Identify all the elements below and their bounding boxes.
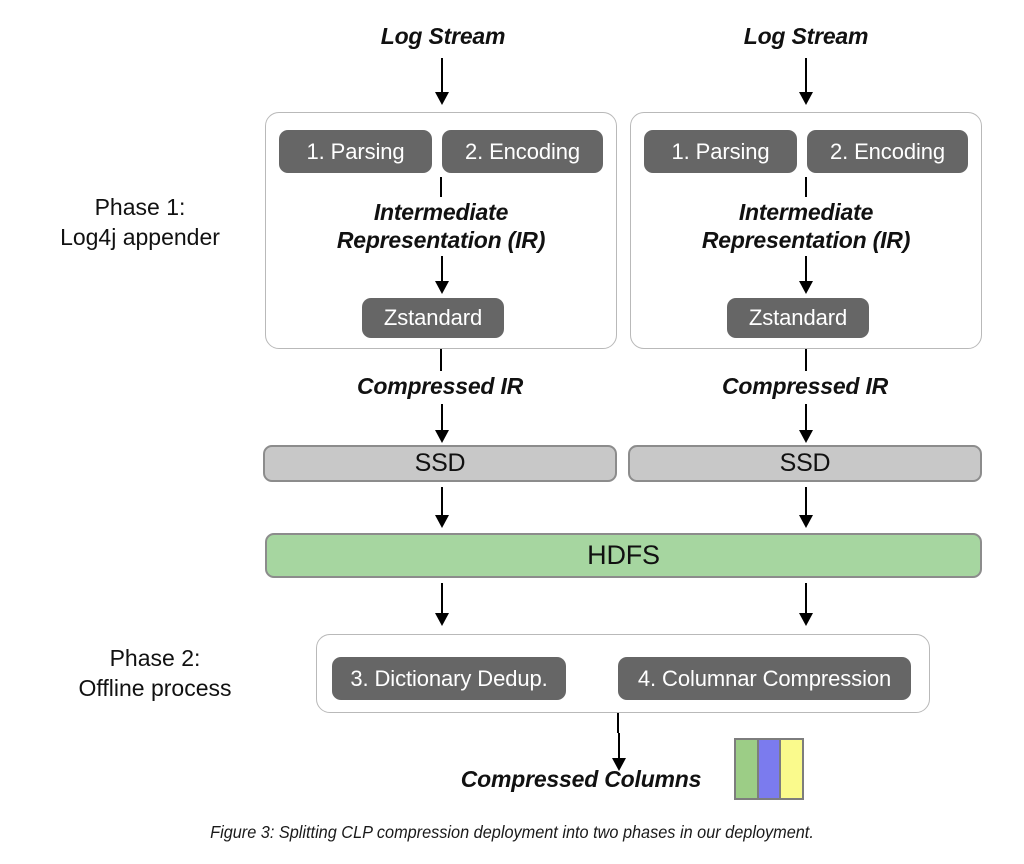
arrow-head <box>799 281 813 294</box>
arrow-hdfs-to-phase2-left <box>434 583 450 626</box>
arrow-ssd-to-hdfs-right <box>798 487 814 528</box>
storage-ssd-left: SSD <box>263 445 617 482</box>
arrow-head <box>435 515 449 528</box>
arrow-head <box>799 430 813 443</box>
arrow-shaft <box>805 256 807 281</box>
arrow-log-stream-to-phase1-right <box>798 58 814 105</box>
storage-ssd-right: SSD <box>628 445 982 482</box>
arrow-shaft <box>805 583 807 613</box>
stage-dictionary-dedup-label: 3. Dictionary Dedup. <box>350 668 547 690</box>
column-swatch-green <box>736 740 757 798</box>
compressor-zstandard-left-label: Zstandard <box>384 307 482 329</box>
arrow-shaft <box>441 583 443 613</box>
phase-2-label: Phase 2: Offline process <box>20 643 290 703</box>
connector-phase1-to-compressed-ir-left <box>440 349 442 371</box>
arrow-ir-to-zstandard-right <box>798 256 814 294</box>
arrow-shaft <box>441 404 443 430</box>
stage-encoding-left[interactable]: 2. Encoding <box>442 130 603 173</box>
arrow-head <box>435 613 449 626</box>
arrow-head <box>435 92 449 105</box>
arrow-shaft <box>441 256 443 281</box>
stage-parsing-right[interactable]: 1. Parsing <box>644 130 797 173</box>
arrow-shaft <box>618 733 620 758</box>
storage-ssd-right-label: SSD <box>780 449 831 478</box>
arrow-compressed-ir-to-ssd-left <box>434 404 450 443</box>
arrow-shaft <box>805 487 807 515</box>
compressed-ir-label-right: Compressed IR <box>680 372 930 400</box>
compressed-ir-label-left: Compressed IR <box>315 372 565 400</box>
arrow-head <box>435 430 449 443</box>
figure-canvas: Log Stream 1. Parsing 2. Encoding Interm… <box>0 0 1024 864</box>
stage-encoding-right-label: 2. Encoding <box>830 141 945 163</box>
compressor-zstandard-right[interactable]: Zstandard <box>727 298 869 338</box>
compressor-zstandard-left[interactable]: Zstandard <box>362 298 504 338</box>
stage-parsing-right-label: 1. Parsing <box>671 141 769 163</box>
log-stream-label-left: Log Stream <box>318 22 568 50</box>
stage-encoding-left-label: 2. Encoding <box>465 141 580 163</box>
arrow-ssd-to-hdfs-left <box>434 487 450 528</box>
arrow-head <box>435 281 449 294</box>
column-swatch-yellow <box>781 740 802 798</box>
stage-parsing-left[interactable]: 1. Parsing <box>279 130 432 173</box>
arrow-shaft <box>805 404 807 430</box>
arrow-ir-to-zstandard-left <box>434 256 450 294</box>
compressed-columns-label: Compressed Columns <box>436 765 726 793</box>
stage-parsing-left-label: 1. Parsing <box>306 141 404 163</box>
storage-ssd-left-label: SSD <box>415 449 466 478</box>
arrow-head <box>799 515 813 528</box>
arrow-compressed-ir-to-ssd-right <box>798 404 814 443</box>
arrow-head <box>799 613 813 626</box>
connector-stages-to-ir-left <box>440 177 442 197</box>
stage-dictionary-dedup[interactable]: 3. Dictionary Dedup. <box>332 657 566 700</box>
stage-columnar-compression[interactable]: 4. Columnar Compression <box>618 657 911 700</box>
stage-columnar-compression-label: 4. Columnar Compression <box>638 668 891 690</box>
connector-stages-to-ir-right <box>805 177 807 197</box>
connector-phase1-to-compressed-ir-right <box>805 349 807 371</box>
phase-1-label: Phase 1: Log4j appender <box>20 192 260 252</box>
figure-caption: Figure 3: Splitting CLP compression depl… <box>36 822 988 843</box>
arrow-shaft <box>441 487 443 515</box>
compressor-zstandard-right-label: Zstandard <box>749 307 847 329</box>
log-stream-label-right: Log Stream <box>681 22 931 50</box>
stage-encoding-right[interactable]: 2. Encoding <box>807 130 968 173</box>
storage-hdfs: HDFS <box>265 533 982 578</box>
arrow-shaft <box>441 58 443 92</box>
arrow-shaft <box>805 58 807 92</box>
compressed-columns-swatch <box>734 738 804 800</box>
arrow-log-stream-to-phase1-left <box>434 58 450 105</box>
connector-phase2-to-output <box>617 713 619 733</box>
arrow-head <box>799 92 813 105</box>
intermediate-representation-label-right: Intermediate Representation (IR) <box>671 198 941 254</box>
arrow-hdfs-to-phase2-right <box>798 583 814 626</box>
intermediate-representation-label-left: Intermediate Representation (IR) <box>306 198 576 254</box>
column-swatch-blue <box>759 740 780 798</box>
storage-hdfs-label: HDFS <box>587 540 660 571</box>
